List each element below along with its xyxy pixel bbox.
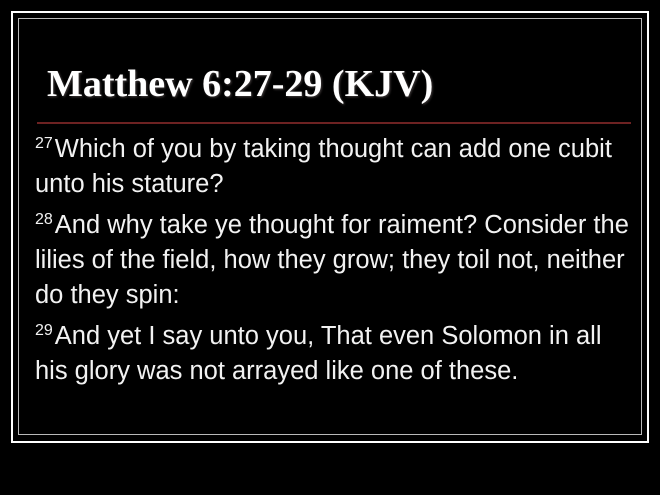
- scripture-text-block: 27Which of you by taking thought can add…: [35, 132, 635, 389]
- verse-number: 29: [35, 322, 53, 339]
- slide-content: Matthew 6:27-29 (KJV) 27Which of you by …: [19, 19, 641, 434]
- presentation-slide: Matthew 6:27-29 (KJV) 27Which of you by …: [0, 0, 660, 495]
- verse-number: 28: [35, 211, 53, 228]
- verse-text: Which of you by taking thought can add o…: [35, 135, 612, 198]
- page-title: Matthew 6:27-29 (KJV): [47, 63, 433, 105]
- verse-paragraph: 28And why take ye thought for raiment? C…: [35, 208, 635, 313]
- verse-text: And why take ye thought for raiment? Con…: [35, 211, 629, 309]
- title-divider: [37, 122, 631, 124]
- verse-paragraph: 27Which of you by taking thought can add…: [35, 132, 635, 202]
- verse-paragraph: 29And yet I say unto you, That even Solo…: [35, 319, 635, 389]
- verse-text: And yet I say unto you, That even Solomo…: [35, 322, 602, 385]
- verse-number: 27: [35, 135, 53, 152]
